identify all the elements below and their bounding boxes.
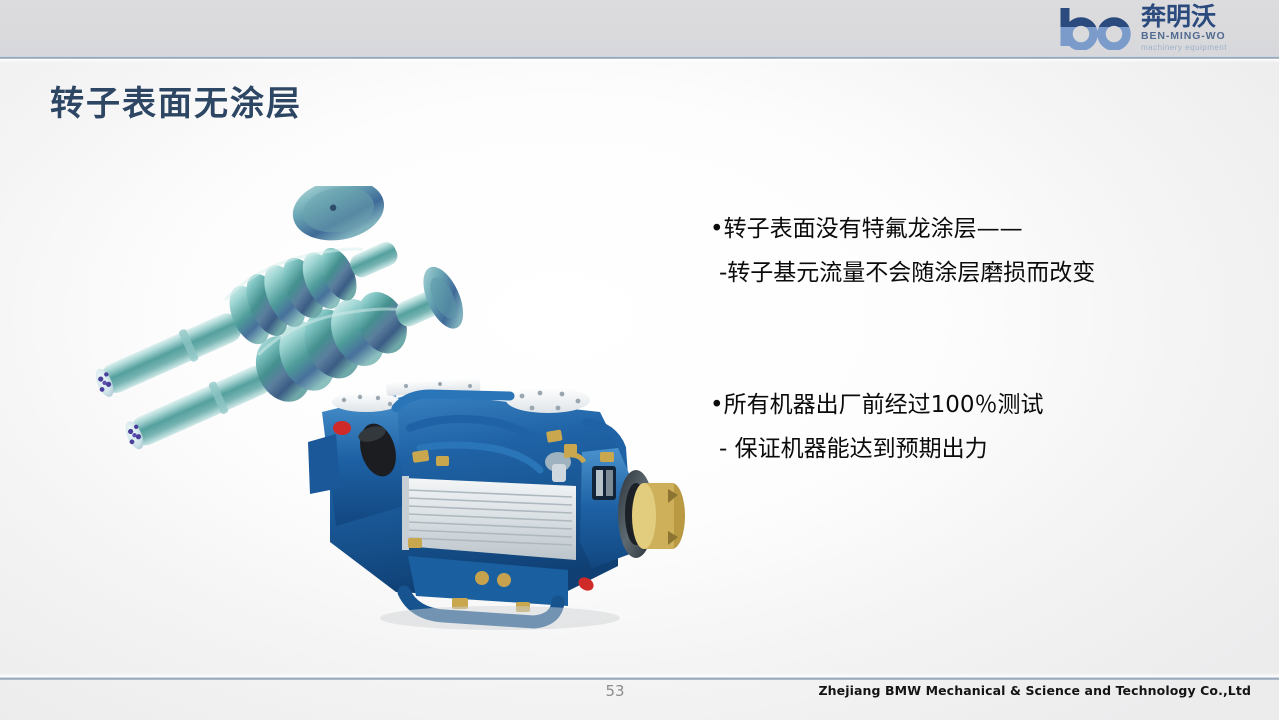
logo-text-block: 奔明沃 BEN-MING-WO machinery equipment [1141, 4, 1227, 52]
bullet-2-sub: - 保证机器能达到预期出力 [710, 427, 1250, 471]
compressor-unit-image [300, 356, 720, 648]
company-logo: 奔明沃 BEN-MING-WO machinery equipment [1059, 2, 1271, 54]
logo-chinese-name: 奔明沃 [1141, 4, 1227, 29]
logo-latin-name: BEN-MING-WO [1141, 31, 1227, 42]
bullet-2-main: •所有机器出厂前经过100％测试 [710, 383, 1250, 427]
bullet-content: •转子表面没有特氟龙涂层—— -转子基元流量不会随涂层磨损而改变 •所有机器出厂… [710, 207, 1250, 471]
bullet-group-1: •转子表面没有特氟龙涂层—— -转子基元流量不会随涂层磨损而改变 [710, 207, 1250, 295]
bullet-1-main: •转子表面没有特氟龙涂层—— [710, 207, 1250, 251]
bo-monogram-icon [1059, 6, 1137, 50]
page-title: 转子表面无涂层 [50, 76, 302, 125]
logo-tagline: machinery equipment [1141, 44, 1227, 52]
slide: 奔明沃 BEN-MING-WO machinery equipment 转子表面… [0, 0, 1279, 720]
header-divider-highlight [0, 59, 1279, 62]
footer-company-name: Zhejiang BMW Mechanical & Science and Te… [819, 683, 1251, 698]
footer-divider [0, 677, 1279, 680]
bullet-group-2: •所有机器出厂前经过100％测试 - 保证机器能达到预期出力 [710, 383, 1250, 471]
bullet-1-sub: -转子基元流量不会随涂层磨损而改变 [710, 251, 1250, 295]
